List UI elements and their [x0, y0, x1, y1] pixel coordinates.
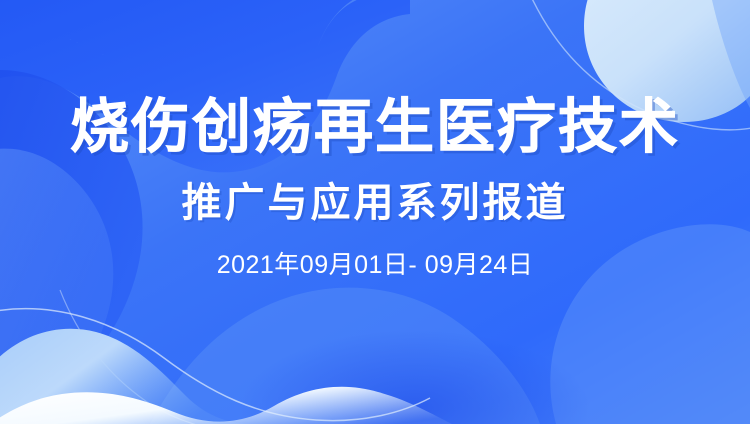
promo-banner: 烧伤创疡再生医疗技术 推广与应用系列报道 2021年09月01日- 09月24日	[0, 0, 750, 424]
banner-content: 烧伤创疡再生医疗技术 推广与应用系列报道 2021年09月01日- 09月24日	[0, 0, 750, 424]
banner-main-title: 烧伤创疡再生医疗技术	[70, 96, 680, 160]
banner-sub-title: 推广与应用系列报道	[182, 181, 569, 225]
banner-date-range: 2021年09月01日- 09月24日	[217, 245, 534, 281]
